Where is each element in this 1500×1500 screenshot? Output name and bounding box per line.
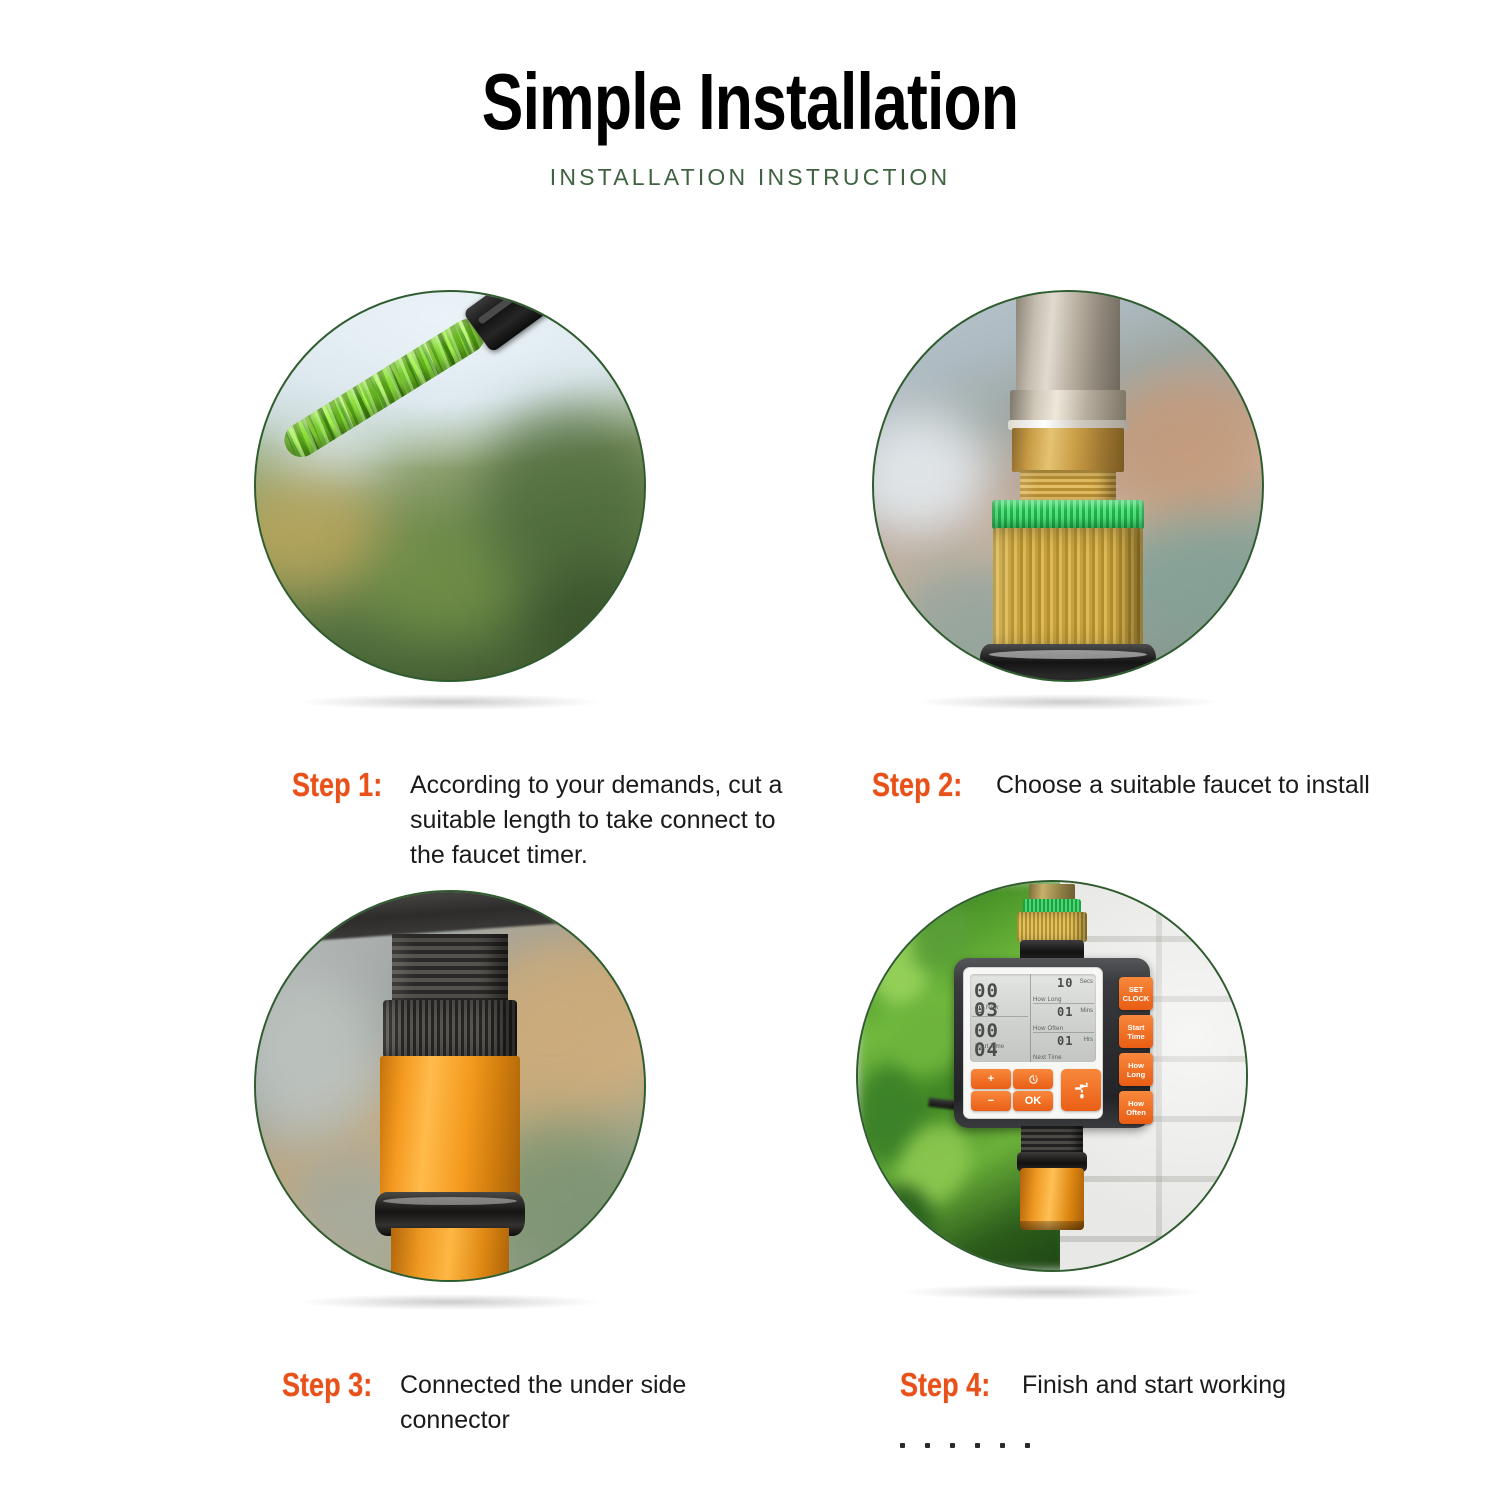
timer-gold-inlet-connector: [1017, 912, 1087, 942]
step-4-image-wrap: 00 03 Now 00 04 Start Time: [856, 880, 1248, 1272]
step-3-card: [254, 890, 646, 1282]
lcd-next-time-value: 01: [1057, 1035, 1073, 1047]
step-1-label: Step 1:: [292, 768, 389, 802]
step-3-image-wrap: [254, 890, 646, 1282]
page-subtitle: INSTALLATION INSTRUCTION: [0, 142, 1500, 191]
gold-knurled-connector: [993, 528, 1143, 650]
step-2-text: Choose a suitable faucet to install: [996, 768, 1392, 803]
timer-front-panel: 00 03 Now 00 04 Start Time: [963, 967, 1103, 1119]
faucet-icon: [1072, 1080, 1091, 1101]
clock-button[interactable]: [1013, 1069, 1053, 1089]
lcd-row-how-often: 01 Mins How Often: [1031, 1005, 1096, 1033]
orange-lower-sleeve: [391, 1228, 509, 1282]
step-1-image-wrap: [254, 290, 646, 682]
brass-threaded-section: [1020, 470, 1116, 504]
footer-dot: [1000, 1443, 1005, 1448]
step-2-label: Step 2:: [872, 768, 974, 802]
brass-hex-nut: [1012, 428, 1124, 472]
lcd-divider: [1033, 1003, 1094, 1004]
step-1-photo-hose: [254, 290, 646, 682]
set-clock-button[interactable]: SET CLOCK: [1119, 977, 1153, 1010]
how-long-line2: Long: [1127, 1070, 1145, 1079]
how-often-button[interactable]: How Often: [1119, 1091, 1153, 1124]
step-2-caption: Step 2: Choose a suitable faucet to inst…: [872, 768, 1392, 803]
timer-outlet-orange-connector: [1020, 1168, 1084, 1230]
clock-icon: [975, 1004, 984, 1013]
set-clock-line2: CLOCK: [1123, 994, 1150, 1003]
step-3-caption: Step 3: Connected the under side connect…: [282, 1368, 782, 1438]
minus-button[interactable]: −: [971, 1091, 1011, 1111]
lcd-row-next-time: 01 Hrs Next Time: [1031, 1034, 1096, 1062]
step-2-image-wrap: [872, 290, 1264, 682]
black-base-ring: [980, 644, 1156, 682]
step-3-text: Connected the under side connector: [400, 1368, 775, 1438]
start-time-line2: Time: [1127, 1032, 1144, 1041]
faucet-stem: [1016, 290, 1120, 396]
footer-dot: [950, 1443, 955, 1448]
page-title: Simple Installation: [165, 0, 1335, 142]
step-1-caption: Step 1: According to your demands, cut a…: [292, 768, 792, 873]
step-1-drop-shadow: [300, 694, 600, 710]
lcd-how-often-unit: Mins: [1080, 1008, 1093, 1014]
header: Simple Installation INSTALLATION INSTRUC…: [0, 0, 1500, 191]
step-2-drop-shadow: [918, 694, 1218, 710]
lcd-now-label: Now: [986, 1005, 999, 1012]
lcd-start-label: Start Time: [975, 1044, 1004, 1051]
how-often-line2: Often: [1126, 1108, 1146, 1117]
timer-side-buttons: SET CLOCK Start Time How Long: [1119, 977, 1153, 1124]
background-blur-foliage: [481, 408, 646, 586]
lcd-divider: [972, 1016, 1028, 1017]
how-often-line1: How: [1128, 1099, 1144, 1108]
step-3-label: Step 3:: [282, 1368, 379, 1402]
step-4-label: Step 4:: [900, 1368, 1000, 1402]
manual-watering-button[interactable]: [1061, 1069, 1101, 1111]
footer-dot: [900, 1443, 905, 1448]
step-2-card: [872, 290, 1264, 682]
lcd-now-label-row: Now: [975, 1004, 999, 1013]
step-1-text: According to your demands, cut a suitabl…: [410, 768, 792, 873]
footer-dot: [1025, 1443, 1030, 1448]
ok-button[interactable]: OK: [1013, 1091, 1053, 1111]
installation-instruction-page: Simple Installation INSTALLATION INSTRUC…: [0, 0, 1500, 1500]
green-collar: [992, 500, 1144, 530]
lcd-how-often-value: 01: [1057, 1006, 1073, 1018]
black-knurled-nut: [383, 1000, 517, 1058]
timer-keypad: + − OK: [971, 1069, 1053, 1111]
step-3-photo-connector: [254, 890, 646, 1282]
plus-button[interactable]: +: [971, 1069, 1011, 1089]
how-long-button[interactable]: How Long: [1119, 1053, 1153, 1086]
orange-quick-connector-body: [380, 1056, 520, 1204]
lcd-display: 00 03 Now 00 04 Start Time: [970, 974, 1096, 1062]
lcd-divider: [1033, 1032, 1094, 1033]
lcd-start-value: 00 04: [974, 1022, 1030, 1060]
step-4-caption: Step 4: Finish and start working: [900, 1368, 1420, 1403]
lcd-next-time-unit: Hrs: [1084, 1037, 1093, 1043]
lcd-how-long-unit: Secs: [1080, 979, 1093, 985]
lcd-left-pane: 00 03 Now 00 04 Start Time: [970, 974, 1031, 1062]
clock-icon: [1028, 1074, 1039, 1085]
background-blur-left: [254, 970, 388, 1148]
how-long-line1: How: [1128, 1061, 1144, 1070]
lcd-next-time-label: Next Time: [1033, 1055, 1062, 1062]
step-2-photo-faucet: [872, 290, 1264, 682]
step-4-photo-timer: 00 03 Now 00 04 Start Time: [856, 880, 1248, 1272]
step-4-card: 00 03 Now 00 04 Start Time: [856, 880, 1248, 1272]
footer-dots: [900, 1443, 1030, 1448]
step-4-text: Finish and start working: [1022, 1368, 1412, 1403]
footer-dot: [975, 1443, 980, 1448]
step-4-drop-shadow: [902, 1284, 1202, 1300]
set-clock-line1: SET: [1129, 985, 1144, 994]
start-time-button[interactable]: Start Time: [1119, 1015, 1153, 1048]
step-3-drop-shadow: [300, 1294, 600, 1310]
lcd-how-long-value: 10: [1057, 977, 1073, 989]
start-time-line1: Start: [1127, 1023, 1144, 1032]
lcd-right-pane: 10 Secs How Long 01 Mins How Often: [1031, 974, 1096, 1062]
footer-dot: [925, 1443, 930, 1448]
lcd-row-how-long: 10 Secs How Long: [1031, 976, 1096, 1004]
timer-housing: 00 03 Now 00 04 Start Time: [954, 958, 1150, 1128]
background-blur-left: [872, 408, 990, 540]
step-1-card: [254, 290, 646, 682]
black-threaded-outlet: [392, 934, 508, 1006]
lcd-now-value: 00 03: [974, 982, 1030, 1020]
